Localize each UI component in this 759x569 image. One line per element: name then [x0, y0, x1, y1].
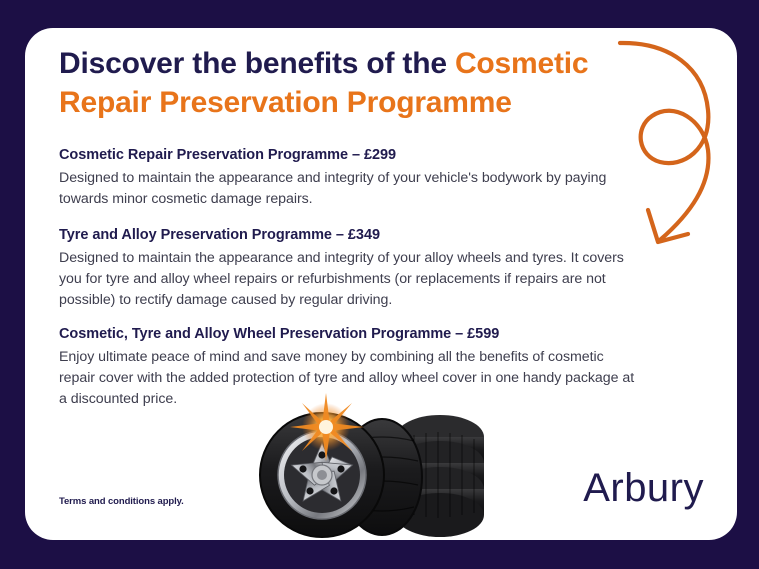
promo-card-canvas: Discover the benefits of the Cosmetic Re… — [0, 0, 759, 569]
brand-logo: Arbury — [583, 468, 704, 508]
headline-accent-1: Cosmetic — [455, 47, 588, 80]
headline-plain: Discover the benefits of the — [59, 47, 455, 80]
offer-description: Designed to maintain the appearance and … — [59, 248, 637, 311]
headline-accent-2: Repair Preservation Programme — [59, 86, 512, 119]
offer-description: Designed to maintain the appearance and … — [59, 168, 637, 210]
offer-block: Cosmetic Repair Preservation Programme –… — [59, 146, 637, 210]
offer-title: Tyre and Alloy Preservation Programme – … — [59, 226, 637, 246]
terms-and-conditions: Terms and conditions apply. — [59, 496, 184, 507]
offer-title: Cosmetic Repair Preservation Programme –… — [59, 146, 637, 166]
tyre-stack-image — [250, 385, 500, 545]
offer-title: Cosmetic, Tyre and Alloy Wheel Preservat… — [59, 325, 637, 345]
offer-block: Tyre and Alloy Preservation Programme – … — [59, 226, 637, 311]
page-title: Discover the benefits of the Cosmetic Re… — [59, 44, 659, 122]
